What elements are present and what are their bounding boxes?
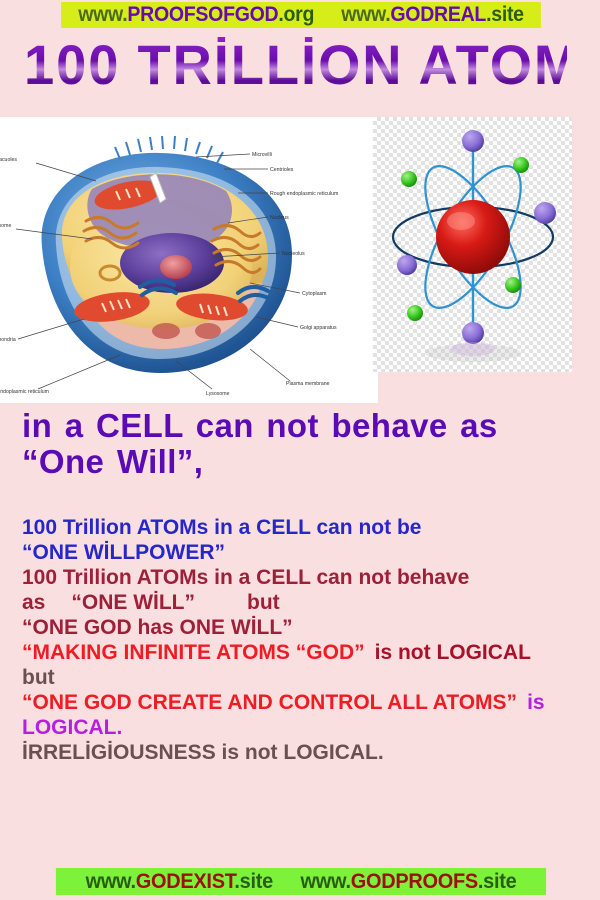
svg-text:Nucleus: Nucleus: [270, 215, 289, 221]
body-text-block: 100 Trillion ATOMs in a CELL can not be …: [22, 515, 600, 765]
electron-green-upper-right: [513, 157, 529, 173]
body-line-2e: “ONE GOD has ONE WİLL”: [22, 615, 600, 640]
top-site-2-name: GODREAL: [390, 3, 486, 26]
bottom-site-2-prefix: www.: [301, 870, 351, 893]
body-line-1b: “ONE WİLLPOWER”: [22, 540, 600, 565]
svg-text:Centrioles: Centrioles: [270, 167, 294, 173]
electron-purple-top: [462, 130, 484, 152]
top-site-1-link[interactable]: www.PROOFSOFGOD.org: [78, 3, 314, 26]
bottom-website-banner: www.GODEXIST.site www.GODPROOFS.site: [56, 868, 546, 895]
body-line-2a: 100 Trillion ATOMs in a CELL can not beh…: [22, 565, 600, 590]
svg-text:Rough endoplasmic reticulum: Rough endoplasmic reticulum: [270, 191, 338, 197]
bottom-site-1-suffix: .site: [234, 870, 273, 893]
electron-green-upper-left: [401, 171, 417, 187]
body-line-4a: “ONE GOD CREATE AND CONTROL ALL ATOMS”: [22, 691, 517, 714]
body-line-3a: “MAKING INFINITE ATOMS “GOD”: [22, 641, 365, 664]
svg-text:Nucleolus: Nucleolus: [282, 251, 305, 257]
top-site-2-prefix: www.: [341, 3, 390, 26]
page-title: 100 TRİLLİON ATOMS: [24, 37, 567, 93]
electron-green-lower-right: [505, 277, 521, 293]
body-line-2b: as: [22, 591, 45, 614]
atom-illustration: [373, 117, 572, 372]
body-line-4: “ONE GOD CREATE AND CONTROL ALL ATOMS”is: [22, 690, 600, 715]
svg-text:Cytoplasm: Cytoplasm: [302, 291, 327, 297]
svg-text:Golgi apparatus: Golgi apparatus: [300, 325, 337, 331]
svg-text:Smooth endoplasmic reticulum: Smooth endoplasmic reticulum: [0, 389, 49, 395]
svg-text:Lysosome: Lysosome: [206, 391, 230, 397]
body-line-4c: LOGICAL.: [22, 715, 600, 740]
atom-model-image: [373, 117, 572, 372]
electron-purple-left: [397, 255, 417, 275]
body-line-3c: but: [22, 665, 600, 690]
svg-text:Mitochondria: Mitochondria: [0, 337, 16, 343]
subheading-line-2: “One Will”,: [22, 444, 592, 480]
top-website-banner: www.PROOFSOFGOD.org www.GODREAL.site: [61, 2, 541, 28]
top-site-1-prefix: www.: [78, 3, 127, 26]
bottom-site-1-name: GODEXIST: [136, 870, 235, 893]
body-line-2-middle: as“ONE WİLL”but: [22, 590, 600, 615]
top-site-1-name: PROOFSOFGOD: [127, 3, 278, 26]
bottom-site-2-name: GODPROOFS: [351, 870, 478, 893]
electron-green-lower-left: [407, 305, 423, 321]
body-line-3: “MAKING INFINITE ATOMS “GOD”is not LOGIC…: [22, 640, 600, 665]
top-site-2-link[interactable]: www.GODREAL.site: [341, 3, 524, 26]
svg-text:Microvilli: Microvilli: [252, 152, 272, 158]
poster-root: www.PROOFSOFGOD.org www.GODREAL.site 100…: [0, 0, 600, 900]
subheading: in a CELL can not behave as “One Will”,: [22, 408, 592, 480]
cell-illustration: Microvilli Centrioles Rough endoplasmic …: [0, 117, 378, 403]
body-line-3b: is not LOGICAL: [375, 641, 531, 664]
top-site-2-suffix: .site: [486, 3, 524, 26]
bottom-site-2-link[interactable]: www.GODPROOFS.site: [301, 870, 517, 893]
body-line-4b: is: [527, 691, 545, 714]
electron-purple-right: [534, 202, 556, 224]
body-line-2c: “ONE WİLL”: [71, 591, 195, 614]
svg-text:Ribosome: Ribosome: [0, 223, 11, 229]
bottom-site-1-prefix: www.: [86, 870, 136, 893]
top-site-1-suffix: .org: [278, 3, 314, 26]
electron-purple-bottom: [462, 322, 484, 344]
body-line-5: İRRELİGİOUSNESS is not LOGICAL.: [22, 740, 600, 765]
svg-text:Vacuoles: Vacuoles: [0, 157, 17, 163]
body-line-1a: 100 Trillion ATOMs in a CELL can not be: [22, 515, 600, 540]
bottom-site-1-link[interactable]: www.GODEXIST.site: [86, 870, 273, 893]
subheading-line-1: in a CELL can not behave as: [22, 408, 592, 444]
animal-cell-diagram-image: Microvilli Centrioles Rough endoplasmic …: [0, 117, 378, 403]
svg-text:Plasma membrane: Plasma membrane: [286, 381, 330, 387]
bottom-site-2-suffix: .site: [478, 870, 517, 893]
body-line-2d: but: [247, 591, 280, 614]
